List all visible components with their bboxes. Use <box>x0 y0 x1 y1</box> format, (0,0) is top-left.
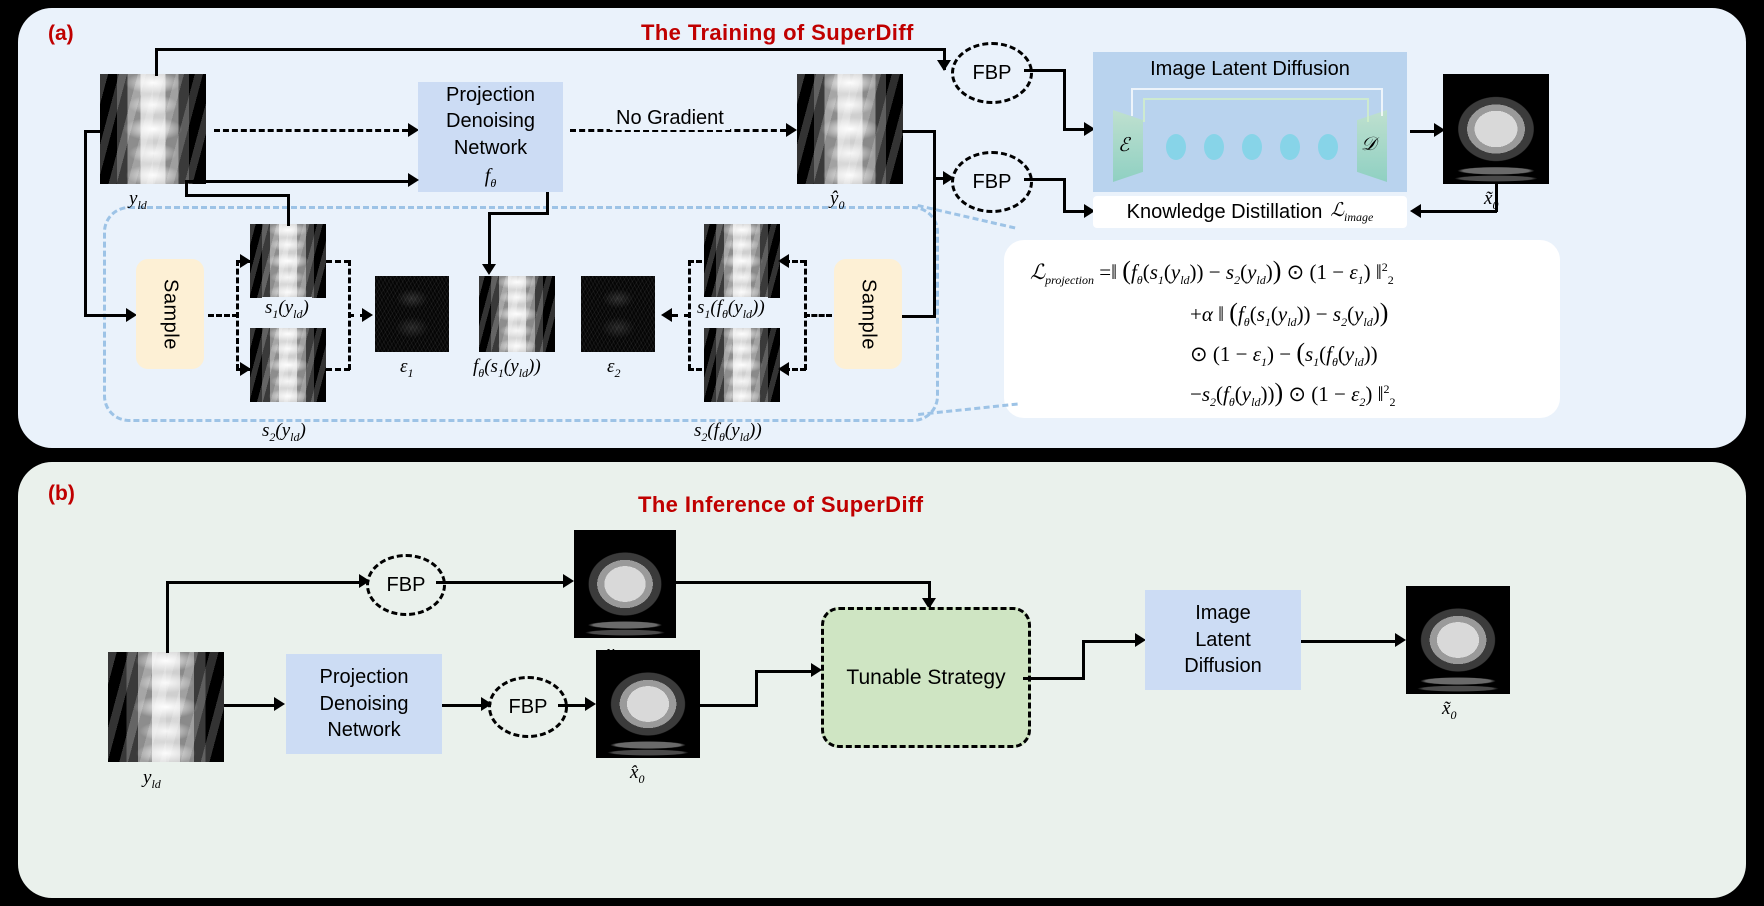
line-s1-to-pdn <box>185 194 290 197</box>
line-fbp1-right <box>1024 69 1066 72</box>
line-fbp1-down <box>1063 69 1066 131</box>
sinogram-yld-image <box>100 74 206 184</box>
arrow-yld-to-pdn-b <box>274 697 285 711</box>
label-f-s1-yld: fθ(s1(yld)) <box>473 356 541 381</box>
sinogram-yld-image-b <box>108 652 224 762</box>
dashed-right-sample-out <box>804 314 832 317</box>
fbp-bubble-top-b[interactable]: FBP <box>366 554 446 616</box>
latent-dot-2 <box>1204 134 1224 160</box>
line-xhat-up <box>755 670 758 706</box>
line-ild-to-xtilde-b <box>1301 640 1397 643</box>
image-latent-diffusion-box[interactable]: Image Latent Diffusion ℰ 𝒟 <box>1093 52 1407 192</box>
sinogram-yhat0-image <box>797 74 903 184</box>
dashed-left-sample-out <box>208 314 238 317</box>
decoder-symbol: 𝒟 <box>1361 134 1376 156</box>
label-yhat0: ŷ0 <box>830 188 844 213</box>
noise-eps2-image <box>581 276 655 352</box>
sinogram-s2-f-yld-image <box>704 328 780 402</box>
dashed-s2-out <box>326 368 350 371</box>
line-xld-right <box>674 581 930 584</box>
projection-denoising-network-a[interactable]: Projection Denoising Network fθ <box>418 82 563 192</box>
ct-xtilde0-image-b <box>1406 586 1510 694</box>
kd-text: Knowledge Distillation <box>1127 201 1323 224</box>
panel-b-title: The Inference of SuperDiff <box>638 492 923 518</box>
line-to-right-sample <box>898 315 936 318</box>
ild-b-line2: Latent <box>1195 627 1251 653</box>
arrow-to-eps2 <box>661 308 672 322</box>
sinogram-s1-f-yld-image <box>704 224 780 298</box>
tunable-strategy-label: Tunable Strategy <box>846 666 1005 690</box>
pdn-a-line2: Denoising <box>446 108 535 134</box>
line-xtilde-to-kd <box>1418 210 1497 213</box>
arrow-no-gradient <box>786 123 797 137</box>
knowledge-distillation-box: Knowledge Distillation ℒimage <box>1093 196 1407 228</box>
line-tunable-right <box>1023 677 1085 680</box>
sinogram-s2-yld-image <box>250 328 326 402</box>
ct-xtilde0-image <box>1443 74 1549 184</box>
equation-line-1: ℒprojection =‖ (fθ(s1(yld)) − s2(yld)) ⊙… <box>1030 256 1394 288</box>
fbp-bubble-bottom[interactable]: FBP <box>951 151 1033 213</box>
arrow-to-sf2 <box>778 362 789 376</box>
line-s1-feed-pdn <box>185 180 410 183</box>
arrow-pdn-to-fs1 <box>482 264 496 275</box>
arrow-ild-to-xtilde-b <box>1395 633 1406 647</box>
line-yld-left-down <box>84 130 87 315</box>
arrow-s1-into-pdn <box>408 173 419 187</box>
line-fbp2-right <box>1024 178 1066 181</box>
line-into-left-sample <box>84 314 127 317</box>
ct-xld-image <box>574 530 676 638</box>
line-pdn-to-fbp-b <box>442 704 484 707</box>
line-yld-left <box>84 130 102 133</box>
line-yld-to-pdn-b <box>224 704 276 707</box>
equation-line-4: −s2(fθ(yld))) ⊙ (1 − ε2) ‖22 <box>1190 378 1395 410</box>
tunable-strategy-box[interactable]: Tunable Strategy <box>821 607 1031 748</box>
line-xtilde-down <box>1495 184 1498 212</box>
pdn-b-line1: Projection <box>320 664 409 690</box>
line-xhat-to-tunable <box>755 670 813 673</box>
arrow-fbp-top-to-xld <box>563 574 574 588</box>
line-yhat0-right <box>902 130 936 133</box>
pdn-a-line1: Projection <box>446 82 535 108</box>
latent-dot-1 <box>1166 134 1186 160</box>
projection-loss-box: ℒprojection =‖ (fθ(s1(yld)) − s2(yld)) ⊙… <box>1004 240 1560 418</box>
sample-box-right[interactable]: Sample <box>834 259 902 369</box>
line-fbp2-down <box>1063 178 1066 212</box>
pdn-b-line3: Network <box>327 717 400 743</box>
dashed-s1-out <box>326 260 350 263</box>
arrow-into-fbp2 <box>943 171 954 185</box>
kd-symbol: ℒimage <box>1330 199 1373 225</box>
arrow-fbp-to-xhat <box>585 697 596 711</box>
dashed-join-right <box>688 260 691 370</box>
latent-dot-4 <box>1280 134 1300 160</box>
latent-dot-5 <box>1318 134 1338 160</box>
label-s1-yld: s1(yld) <box>262 297 312 322</box>
label-xtilde0-b: x̃0 <box>1442 698 1456 723</box>
line-s1-up <box>287 194 290 226</box>
line-yhat0-down <box>933 130 936 179</box>
label-s1-f-yld: s1(fθ(yld)) <box>694 297 768 322</box>
pdn-b-line2: Denoising <box>320 691 409 717</box>
label-eps2: ε2 <box>607 356 621 381</box>
line-latent-to-xtilde <box>1410 130 1436 133</box>
latent-diffusion-title: Image Latent Diffusion <box>1093 58 1407 81</box>
ild-b-line1: Image <box>1195 600 1251 626</box>
latent-dot-3 <box>1242 134 1262 160</box>
panel-a-tag: (a) <box>48 22 74 46</box>
line-xhat-right <box>700 704 758 707</box>
line-fbp-top-to-xld <box>436 581 564 584</box>
sinogram-f-s1-yld-image <box>479 276 555 352</box>
noise-eps1-image <box>375 276 449 352</box>
sample-right-label: Sample <box>857 279 880 350</box>
line-b-up <box>166 581 169 653</box>
label-eps1: ε1 <box>400 356 414 381</box>
encoder-symbol: ℰ <box>1118 134 1130 157</box>
line-tunable-up <box>1082 640 1085 680</box>
fbp-bubble-top[interactable]: FBP <box>951 42 1033 104</box>
equation-line-2: +α ‖ (fθ(s1(yld)) − s2(yld)) <box>1190 298 1388 330</box>
label-xhat0: x̂0 <box>630 762 644 787</box>
arrow-to-sf1 <box>778 254 789 268</box>
image-latent-diffusion-box-b[interactable]: Image Latent Diffusion <box>1145 590 1301 690</box>
pdn-a-symbol: fθ <box>485 163 496 192</box>
ild-b-line3: Diffusion <box>1184 653 1261 679</box>
line-tunable-to-ild <box>1082 640 1138 643</box>
line-pdn-down-2 <box>488 212 491 268</box>
skip-connection-inner <box>1143 98 1369 122</box>
arrow-xtilde-to-kd <box>1410 204 1421 218</box>
pdn-a-line3: Network <box>454 135 527 161</box>
label-s2-f-yld: s2(fθ(yld)) <box>694 420 762 445</box>
dashed-yld-to-pdn <box>214 129 408 132</box>
line-b-to-fbp-top <box>166 581 362 584</box>
panel-a-training: (a) The Training of SuperDiff yld Projec… <box>18 8 1746 448</box>
panel-b-tag: (b) <box>48 482 75 506</box>
line-pdn-left <box>488 212 549 215</box>
dashed-right-split <box>804 260 807 370</box>
equation-line-3: ⊙ (1 − ε1) − (s1(fθ(yld)) <box>1190 338 1378 370</box>
projection-denoising-network-b[interactable]: Projection Denoising Network <box>286 654 442 754</box>
line-fbp-to-xhat <box>558 704 588 707</box>
panel-a-title: The Training of SuperDiff <box>641 20 914 46</box>
dashed-left-split <box>236 260 239 370</box>
label-s2-yld: s2(yld) <box>262 420 306 445</box>
line-yld-up <box>155 48 158 76</box>
sample-left-label: Sample <box>159 279 182 350</box>
sample-box-left[interactable]: Sample <box>136 259 204 369</box>
line-top-to-fbp1 <box>155 48 945 51</box>
panel-b-inference: (b) The Inference of SuperDiff yld FBP x… <box>18 462 1746 898</box>
ct-xhat0-image <box>596 650 700 758</box>
line-pdn-down-1 <box>546 192 549 214</box>
fbp-bubble-bottom-b[interactable]: FBP <box>488 676 568 738</box>
label-no-gradient: No Gradient <box>610 107 730 130</box>
sinogram-s1-yld-image <box>250 224 326 298</box>
label-yld: yld <box>129 188 147 213</box>
arrow-to-eps1 <box>362 308 373 322</box>
label-yld-b: yld <box>143 767 161 792</box>
arrow-into-fbp1 <box>937 60 951 71</box>
